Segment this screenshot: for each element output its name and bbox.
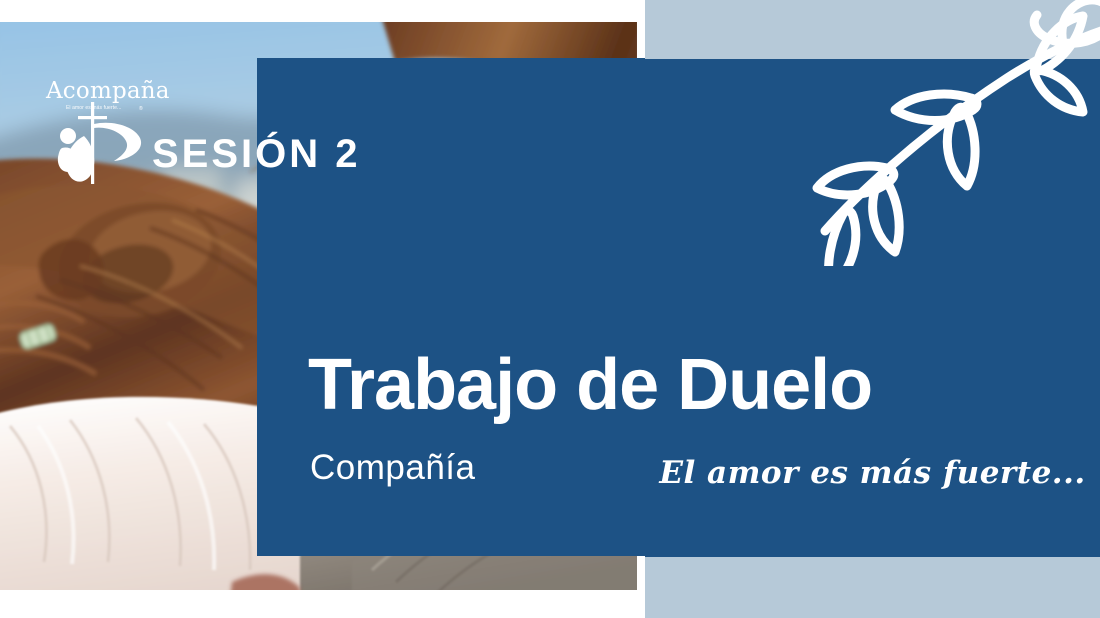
tagline-script: El amor es más fuerte... bbox=[645, 455, 1100, 491]
brand-tagline: El amor es más fuerte... bbox=[66, 105, 121, 111]
page-subtitle: Compañía bbox=[310, 450, 475, 485]
logo-session-row: Acompaña El amor es más fuerte... ® SESI… bbox=[38, 78, 361, 188]
brand-wordmark: Acompaña bbox=[46, 78, 170, 104]
bottom-accent-band bbox=[645, 557, 1100, 618]
registered-mark: ® bbox=[139, 106, 143, 112]
right-panel: El amor es más fuerte... bbox=[645, 0, 1100, 618]
top-accent-band bbox=[645, 0, 1100, 59]
page-title: Trabajo de Duelo bbox=[308, 349, 872, 421]
session-label: SESIÓN 2 bbox=[152, 134, 361, 174]
presentation-slide: El amor es más fuerte... bbox=[0, 0, 1100, 618]
